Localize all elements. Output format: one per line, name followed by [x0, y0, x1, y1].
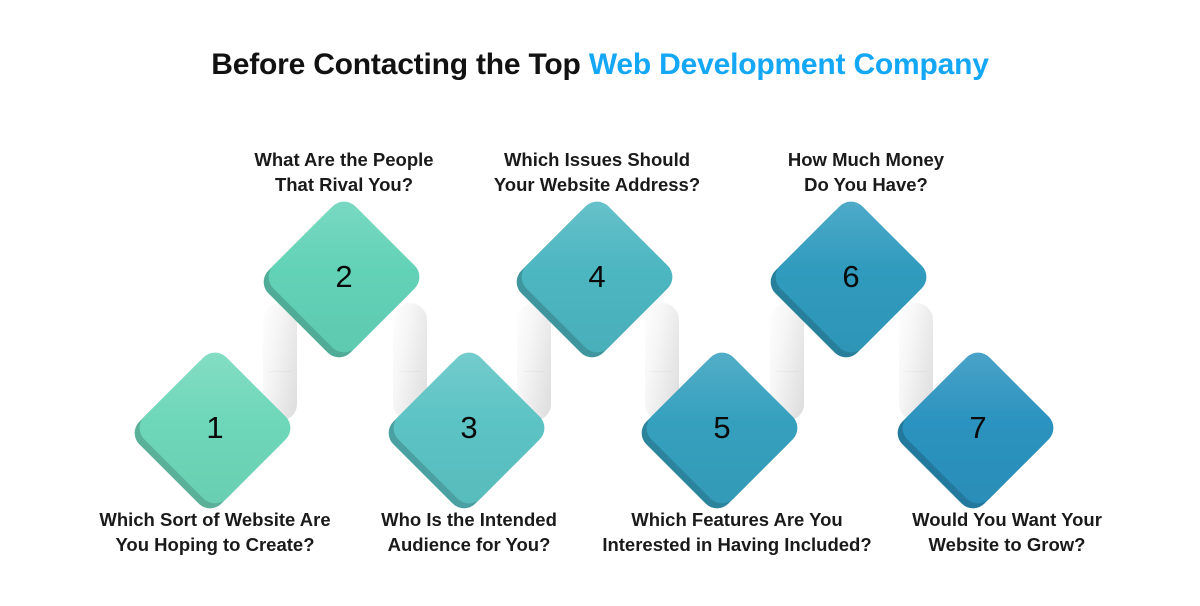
infographic-canvas: Before Contacting the Top Web Developmen…	[0, 0, 1200, 606]
step-number-5: 5	[664, 370, 780, 486]
step-number-7: 7	[920, 370, 1036, 486]
step-label-4-line1: Which Issues Should	[467, 148, 727, 173]
step-label-1: Which Sort of Website Are You Hoping to …	[60, 508, 370, 558]
step-label-5-line2: Interested in Having Included?	[572, 533, 902, 558]
step-label-2: What Are the People That Rival You?	[214, 148, 474, 198]
step-number-1: 1	[157, 370, 273, 486]
step-label-1-line1: Which Sort of Website Are	[60, 508, 370, 533]
step-label-4-line2: Your Website Address?	[467, 173, 727, 198]
step-label-5: Which Features Are You Interested in Hav…	[572, 508, 902, 558]
step-label-4: Which Issues Should Your Website Address…	[467, 148, 727, 198]
step-label-7: Would You Want Your Website to Grow?	[876, 508, 1138, 558]
step-label-3: Who Is the Intended Audience for You?	[344, 508, 594, 558]
step-number-3: 3	[411, 370, 527, 486]
step-number-2: 2	[286, 219, 402, 335]
step-number-6: 6	[793, 219, 909, 335]
step-label-6-line2: Do You Have?	[736, 173, 996, 198]
step-label-7-line1: Would You Want Your	[876, 508, 1138, 533]
step-label-6-line1: How Much Money	[736, 148, 996, 173]
step-label-3-line2: Audience for You?	[344, 533, 594, 558]
step-label-2-line1: What Are the People	[214, 148, 474, 173]
step-number-4: 4	[539, 219, 655, 335]
step-label-3-line1: Who Is the Intended	[344, 508, 594, 533]
step-label-2-line2: That Rival You?	[214, 173, 474, 198]
step-label-6: How Much Money Do You Have?	[736, 148, 996, 198]
step-label-1-line2: You Hoping to Create?	[60, 533, 370, 558]
step-label-5-line1: Which Features Are You	[572, 508, 902, 533]
step-label-7-line2: Website to Grow?	[876, 533, 1138, 558]
